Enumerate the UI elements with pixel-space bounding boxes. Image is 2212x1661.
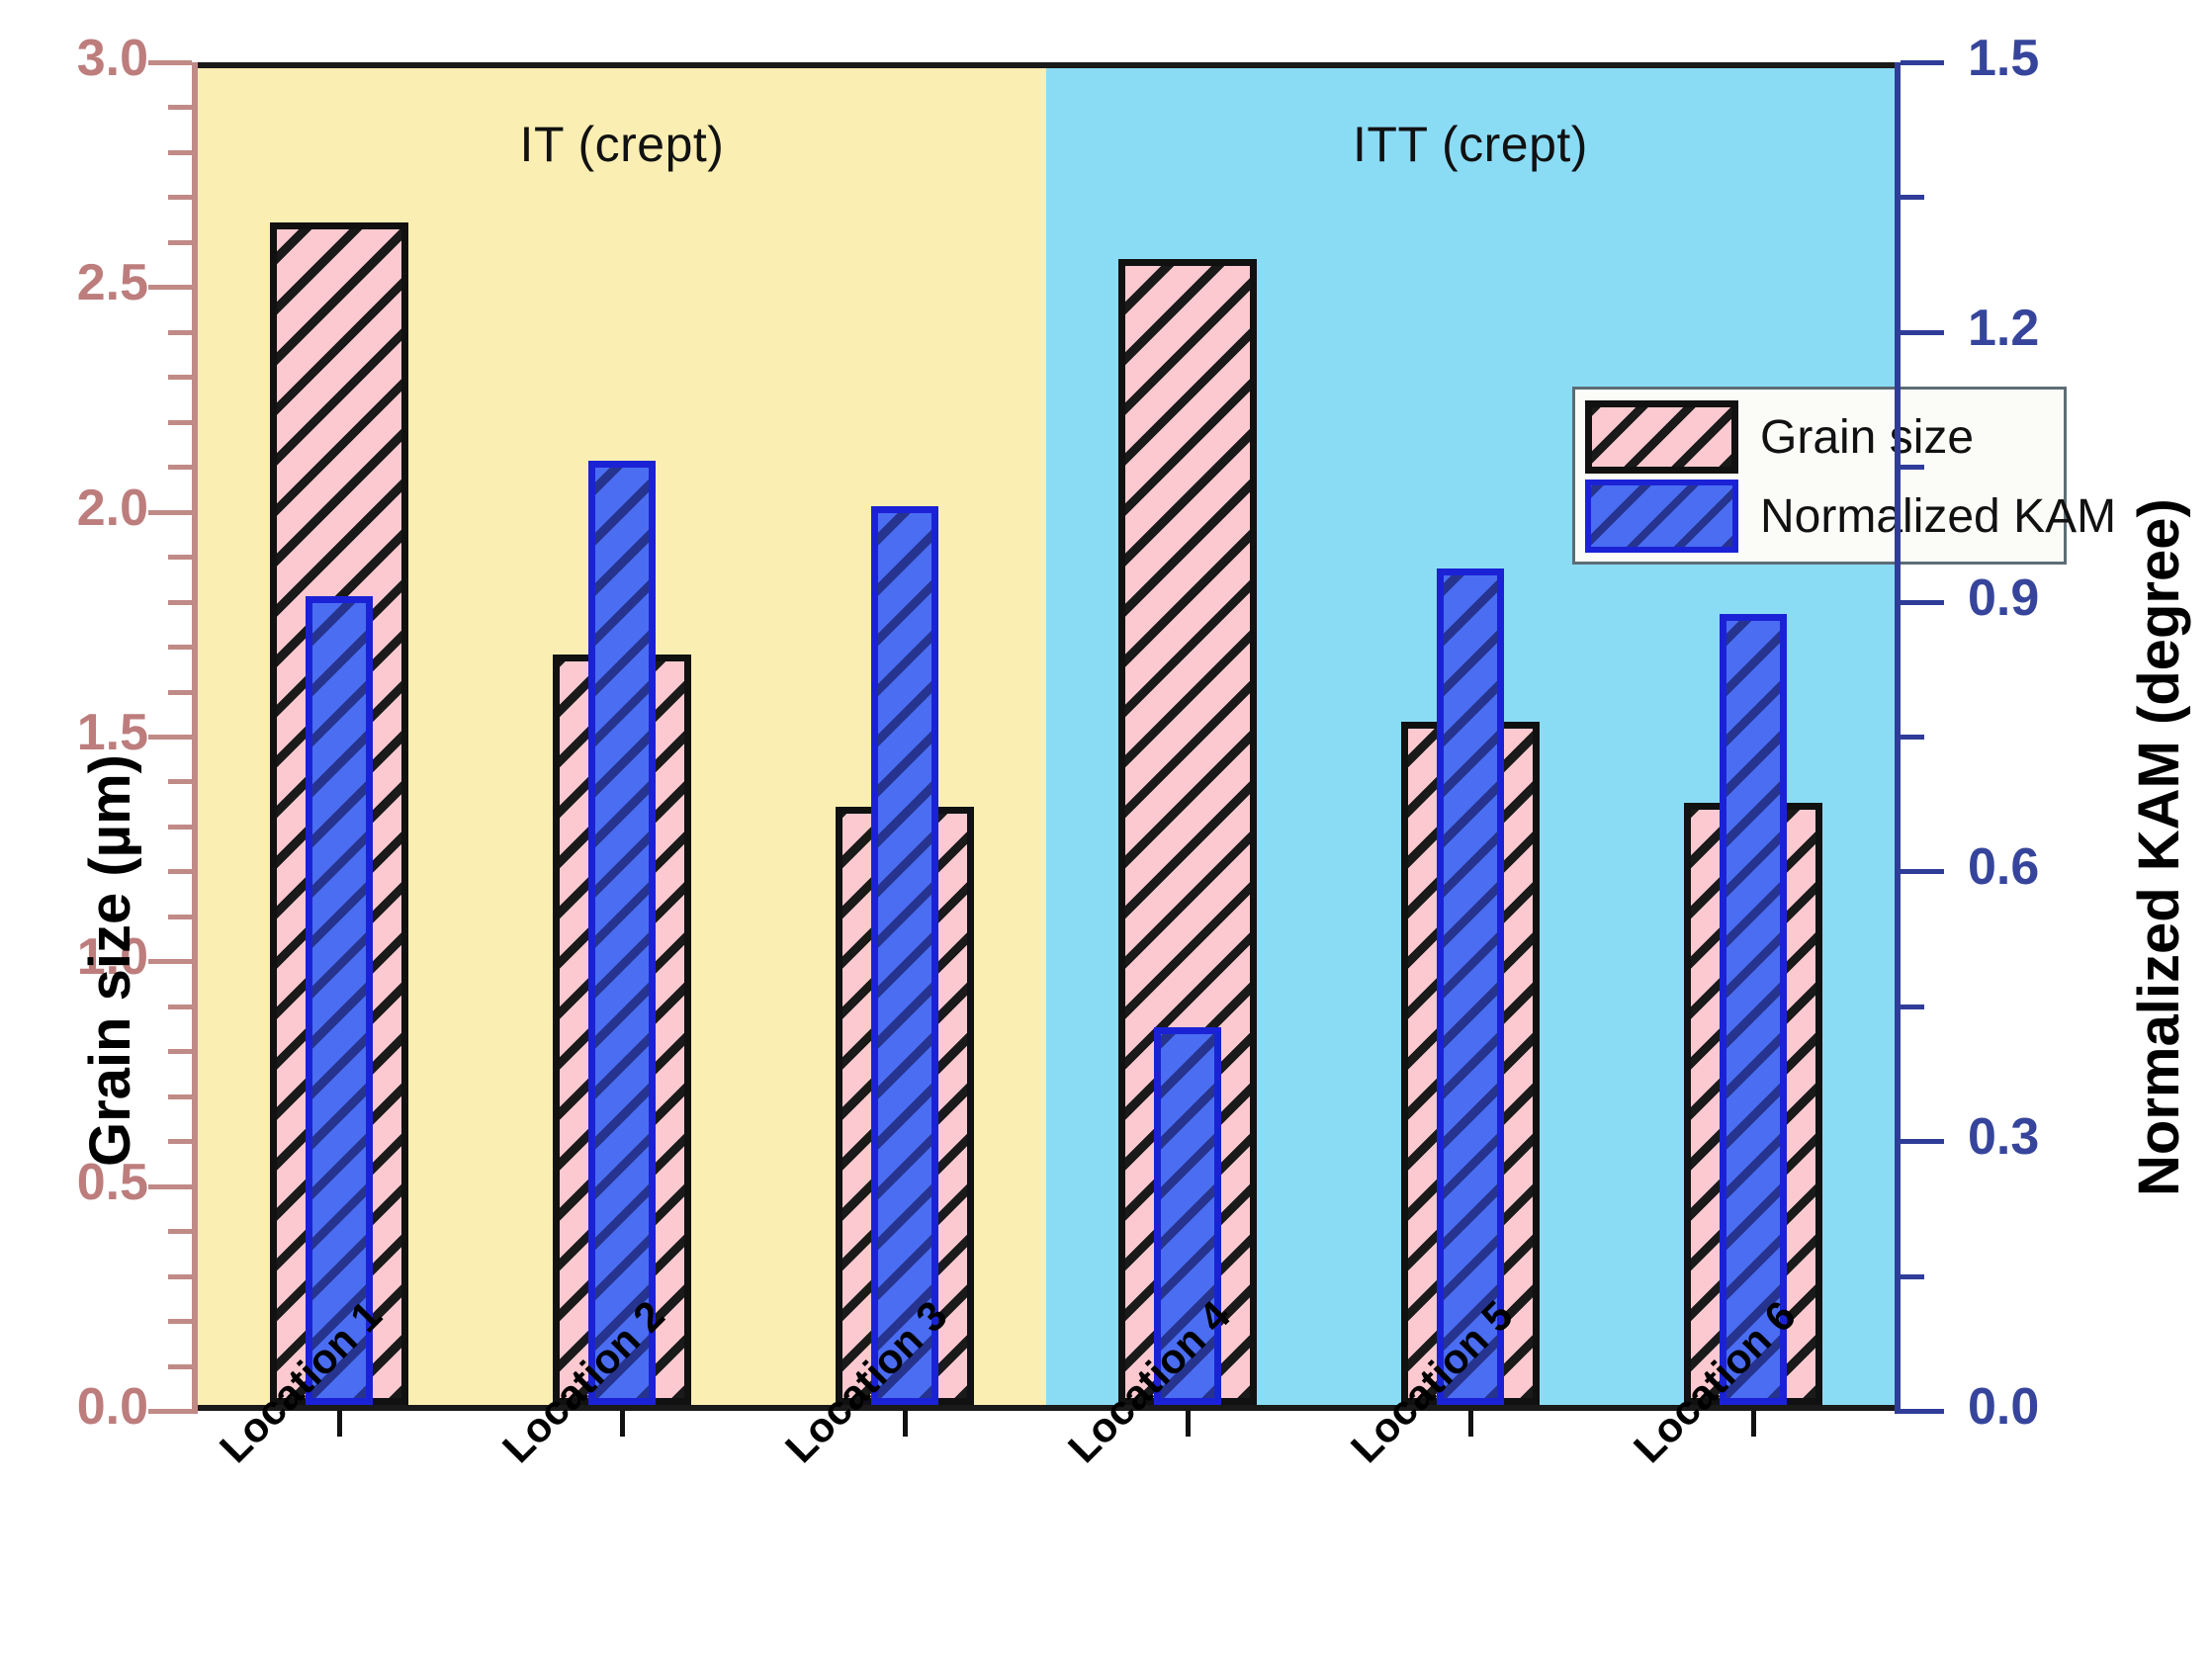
right-tick-label: 0.0	[1968, 1377, 2039, 1437]
x-tick	[1468, 1411, 1473, 1437]
x-tick	[620, 1411, 625, 1437]
x-axis-category-labels: Location 1Location 2Location 3Location 4…	[198, 1439, 1895, 1656]
right-tick-label: 0.3	[1968, 1107, 2039, 1167]
right-tick-label: 0.6	[1968, 837, 2039, 897]
right-tick-label: 1.5	[1968, 29, 2039, 88]
x-tick	[337, 1411, 342, 1437]
right-axis-tick-labels: 0.00.30.60.91.21.5	[0, 62, 2212, 1411]
x-tick	[903, 1411, 908, 1437]
x-tick	[1186, 1411, 1191, 1437]
x-tick	[1751, 1411, 1756, 1437]
right-tick-label: 0.9	[1968, 568, 2039, 628]
right-axis-title: Normalized KAM (degree)	[2126, 498, 2192, 1196]
left-axis-title: Grain size (µm)	[77, 754, 143, 1167]
chart-figure: IT (crept) ITT (crept) Grain size Normal…	[0, 0, 2212, 1661]
right-tick-label: 1.2	[1968, 299, 2039, 358]
